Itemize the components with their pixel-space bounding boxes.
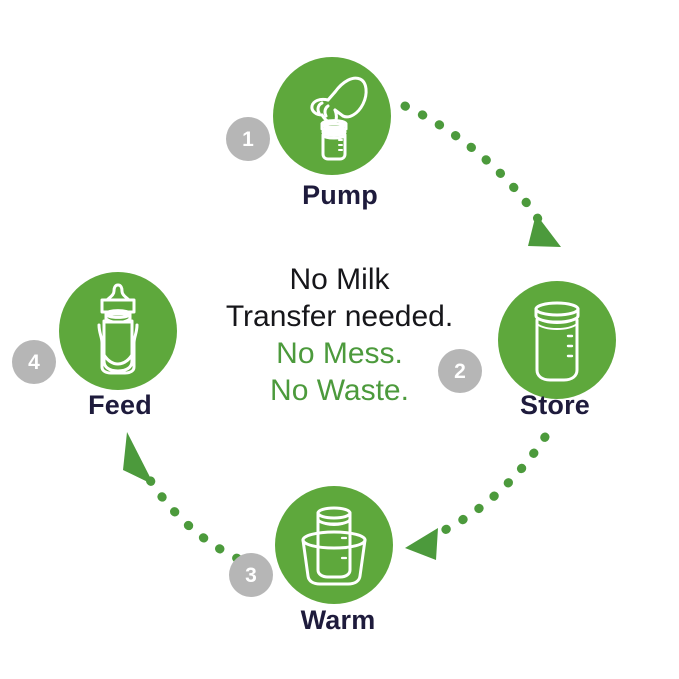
breast-pump-icon — [289, 70, 375, 162]
step-circle-store[interactable] — [498, 281, 616, 399]
step-badge-number: 4 — [28, 352, 40, 373]
arrow-warm-to-feed-head — [123, 432, 154, 485]
step-circle-feed[interactable] — [59, 272, 177, 390]
step-badge-pump: 1 — [226, 117, 270, 161]
arrow-pump-to-store-dots — [405, 106, 540, 222]
step-badge-number: 3 — [245, 565, 257, 586]
center-message: No Milk Transfer needed. No Mess. No Was… — [226, 262, 453, 410]
step-label-warm: Warm — [301, 605, 376, 636]
center-message-line4: No Waste. — [226, 373, 453, 410]
arrow-pump-to-store-head — [528, 214, 561, 247]
arrow-store-to-warm — [405, 437, 545, 560]
arrow-warm-to-feed — [123, 432, 255, 566]
center-message-line3: No Mess. — [226, 336, 453, 373]
arrow-store-to-warm-head — [405, 528, 438, 560]
baby-bottle-nipple-icon — [80, 281, 156, 381]
cycle-diagram: 1 Pump — [0, 0, 679, 679]
arrow-pump-to-store — [405, 106, 561, 247]
center-message-line2: Transfer needed. — [226, 299, 453, 336]
step-label-pump: Pump — [302, 180, 378, 211]
step-badge-warm: 3 — [229, 553, 273, 597]
step-label-store: Store — [520, 390, 590, 421]
arrow-store-to-warm-dots — [432, 437, 545, 536]
step-circle-pump[interactable] — [273, 57, 391, 175]
center-message-line1: No Milk — [226, 262, 453, 299]
step-label-feed: Feed — [88, 390, 152, 421]
step-badge-number: 2 — [454, 361, 466, 382]
step-badge-number: 1 — [242, 129, 254, 150]
arrow-warm-to-feed-dots — [148, 477, 255, 566]
milk-storage-bottle-icon — [517, 294, 597, 386]
step-circle-warm[interactable] — [275, 486, 393, 604]
step-badge-feed: 4 — [12, 340, 56, 384]
bottle-in-water-cup-icon — [288, 500, 380, 590]
